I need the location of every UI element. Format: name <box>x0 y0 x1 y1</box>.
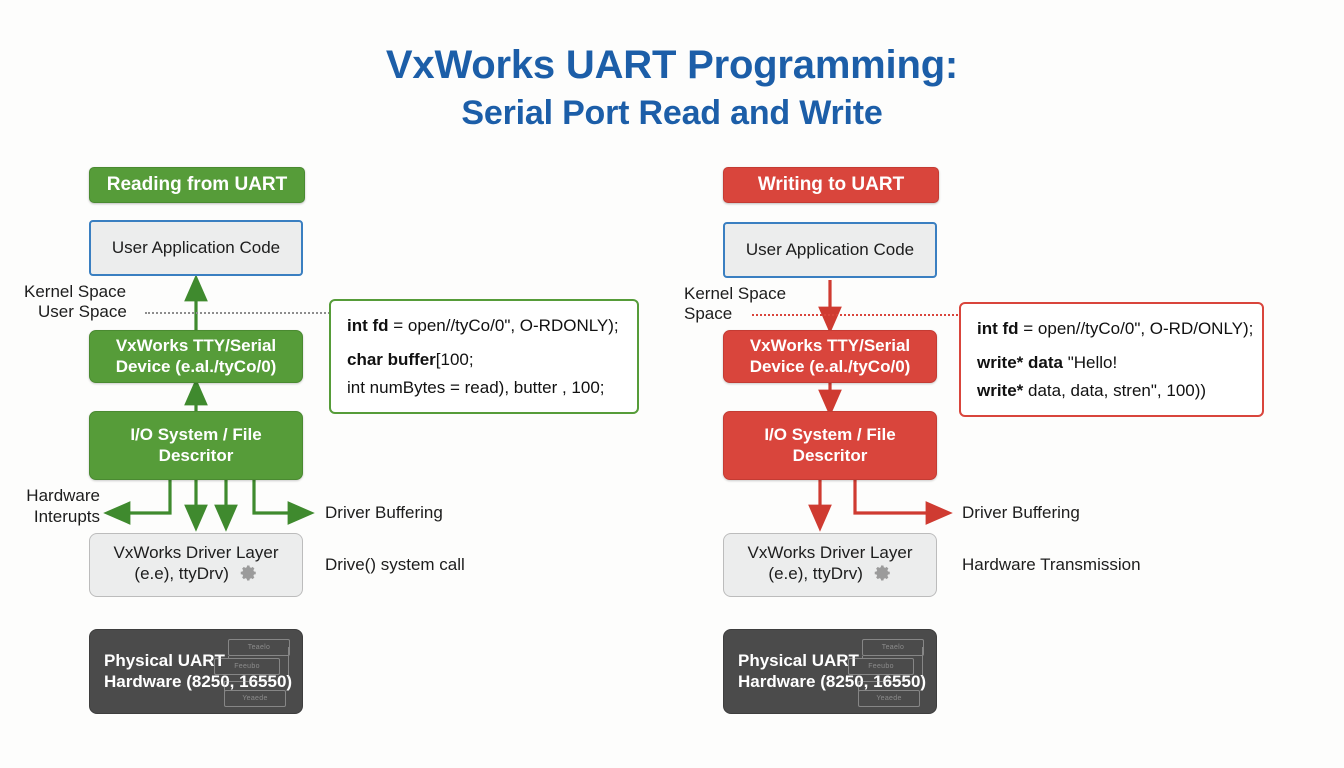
read-system-call-label: Drive() system call <box>325 555 465 576</box>
chip-label-mid: Feeubo <box>848 658 914 675</box>
page-title: VxWorks UART Programming: Serial Port Re… <box>0 42 1344 135</box>
write-io-line-2: Descritor <box>793 446 868 465</box>
chip-wire-d <box>268 677 269 682</box>
read-tty-serial-device-box: VxWorks TTY/Serial Device (e.al./tyCo/0) <box>89 330 303 383</box>
write-code-line-3: write* data, data, stren", 100)) <box>977 380 1246 401</box>
write-code-line-2-rest: "Hello! <box>1063 353 1117 372</box>
writing-to-uart-header: Writing to UART <box>723 167 939 203</box>
read-code-line-2-rest: [100; <box>436 350 474 369</box>
chip-wire-right <box>288 647 289 677</box>
write-uart-chip-graphic: Teaelo Feeubo Yeaede <box>836 637 928 709</box>
chip-label-bottom: Yeaede <box>858 690 920 707</box>
read-hardware-interrupts-label: Hardware Interupts <box>0 486 100 527</box>
write-app-label: User Application Code <box>746 240 914 261</box>
chip-wire-a <box>228 656 229 659</box>
gear-icon <box>240 564 258 588</box>
read-flow-arrows <box>108 279 310 527</box>
chip-wire-right <box>922 647 923 677</box>
read-code-line-2-keyword: char buffer <box>347 350 436 369</box>
write-driver-line-2: (e.e), ttyDrv) <box>768 564 862 583</box>
chip-label-top: Teaelo <box>862 639 924 656</box>
write-code-line-3-rest: data, data, stren", 100)) <box>1023 381 1206 400</box>
read-uart-chip-graphic: Teaelo Feeubo Yeaede <box>202 637 294 709</box>
read-vxworks-driver-layer-box: VxWorks Driver Layer (e.e), ttyDrv) <box>89 533 303 597</box>
write-code-line-2: write* data "Hello! <box>977 352 1246 373</box>
read-code-gap <box>347 336 621 349</box>
read-io-line-1: I/O System / File <box>130 425 261 444</box>
write-tty-serial-device-box: VxWorks TTY/Serial Device (e.al./tyCo/0) <box>723 330 937 383</box>
read-io-system-file-descriptor-box: I/O System / File Descritor <box>89 411 303 480</box>
diagram-canvas: VxWorks UART Programming: Serial Port Re… <box>0 0 1344 768</box>
read-tty-line-2: Device (e.al./tyCo/0) <box>116 357 277 376</box>
read-code-line-1-keyword: int fd <box>347 316 389 335</box>
gear-icon <box>874 564 892 588</box>
read-kernel-space-label: Kernel Space <box>24 282 126 303</box>
write-vxworks-driver-layer-box: VxWorks Driver Layer (e.e), ttyDrv) <box>723 533 937 597</box>
write-code-line-1-keyword: int fd <box>977 319 1019 338</box>
title-line-1: VxWorks UART Programming: <box>386 43 958 87</box>
read-user-space-label: User Space <box>38 302 127 323</box>
read-user-application-code-box: User Application Code <box>89 220 303 276</box>
write-code-line-2-keyword: write* data <box>977 353 1063 372</box>
read-tty-line-1: VxWorks TTY/Serial <box>116 336 276 355</box>
read-code-line-2: char buffer[100; <box>347 349 621 370</box>
write-user-application-code-box: User Application Code <box>723 222 937 278</box>
chip-label-bottom: Yeaede <box>224 690 286 707</box>
write-code-line-1-rest: = open//tyCo/0", O-RD/ONLY); <box>1019 319 1254 338</box>
read-space-divider <box>145 312 345 314</box>
read-io-line-2: Descritor <box>159 446 234 465</box>
write-io-line-1: I/O System / File <box>764 425 895 444</box>
chip-wire-d <box>902 677 903 682</box>
read-app-label: User Application Code <box>112 238 280 259</box>
write-physical-uart-hardware-box: Physical UART Hardware (8250, 16550) Tea… <box>723 629 937 714</box>
reading-from-uart-header: Reading from UART <box>89 167 305 203</box>
read-driver-line-1: VxWorks Driver Layer <box>114 543 279 562</box>
read-code-line-1: int fd = open//tyCo/0", O-RDONLY); <box>347 315 621 336</box>
write-kernel-space-label: Kernel Space <box>684 284 786 305</box>
write-code-line-3-keyword: write* <box>977 381 1023 400</box>
write-tty-line-2: Device (e.al./tyCo/0) <box>750 357 911 376</box>
chip-wire-c <box>858 681 859 691</box>
read-code-snippet-box: int fd = open//tyCo/0", O-RDONLY); char … <box>329 299 639 414</box>
write-driver-buffering-label: Driver Buffering <box>962 503 1080 524</box>
write-io-system-file-descriptor-box: I/O System / File Descritor <box>723 411 937 480</box>
read-physical-uart-hardware-box: Physical UART Hardware (8250, 16550) Tea… <box>89 629 303 714</box>
write-flow-arrows <box>820 280 948 527</box>
write-code-snippet-box: int fd = open//tyCo/0", O-RD/ONLY); writ… <box>959 302 1264 417</box>
write-hardware-transmission-label: Hardware Transmission <box>962 555 1141 576</box>
write-tty-line-1: VxWorks TTY/Serial <box>750 336 910 355</box>
chip-label-top: Teaelo <box>228 639 290 656</box>
write-space-divider <box>752 314 962 316</box>
chip-label-mid: Feeubo <box>214 658 280 675</box>
read-code-line-1-rest: = open//tyCo/0", O-RDONLY); <box>389 316 619 335</box>
write-code-gap <box>977 339 1246 352</box>
read-code-line-3: int numBytes = read), butter , 100; <box>347 377 621 398</box>
chip-wire-c <box>224 681 225 691</box>
write-code-line-1: int fd = open//tyCo/0", O-RD/ONLY); <box>977 318 1246 339</box>
chip-wire-b <box>224 681 268 682</box>
chip-wire-a <box>862 656 863 659</box>
read-driver-line-2: (e.e), ttyDrv) <box>134 564 228 583</box>
chip-wire-b <box>858 681 902 682</box>
write-driver-line-1: VxWorks Driver Layer <box>748 543 913 562</box>
read-driver-buffering-label: Driver Buffering <box>325 503 443 524</box>
write-user-space-label: Space <box>684 304 732 325</box>
title-line-2: Serial Port Read and Write <box>0 91 1344 135</box>
